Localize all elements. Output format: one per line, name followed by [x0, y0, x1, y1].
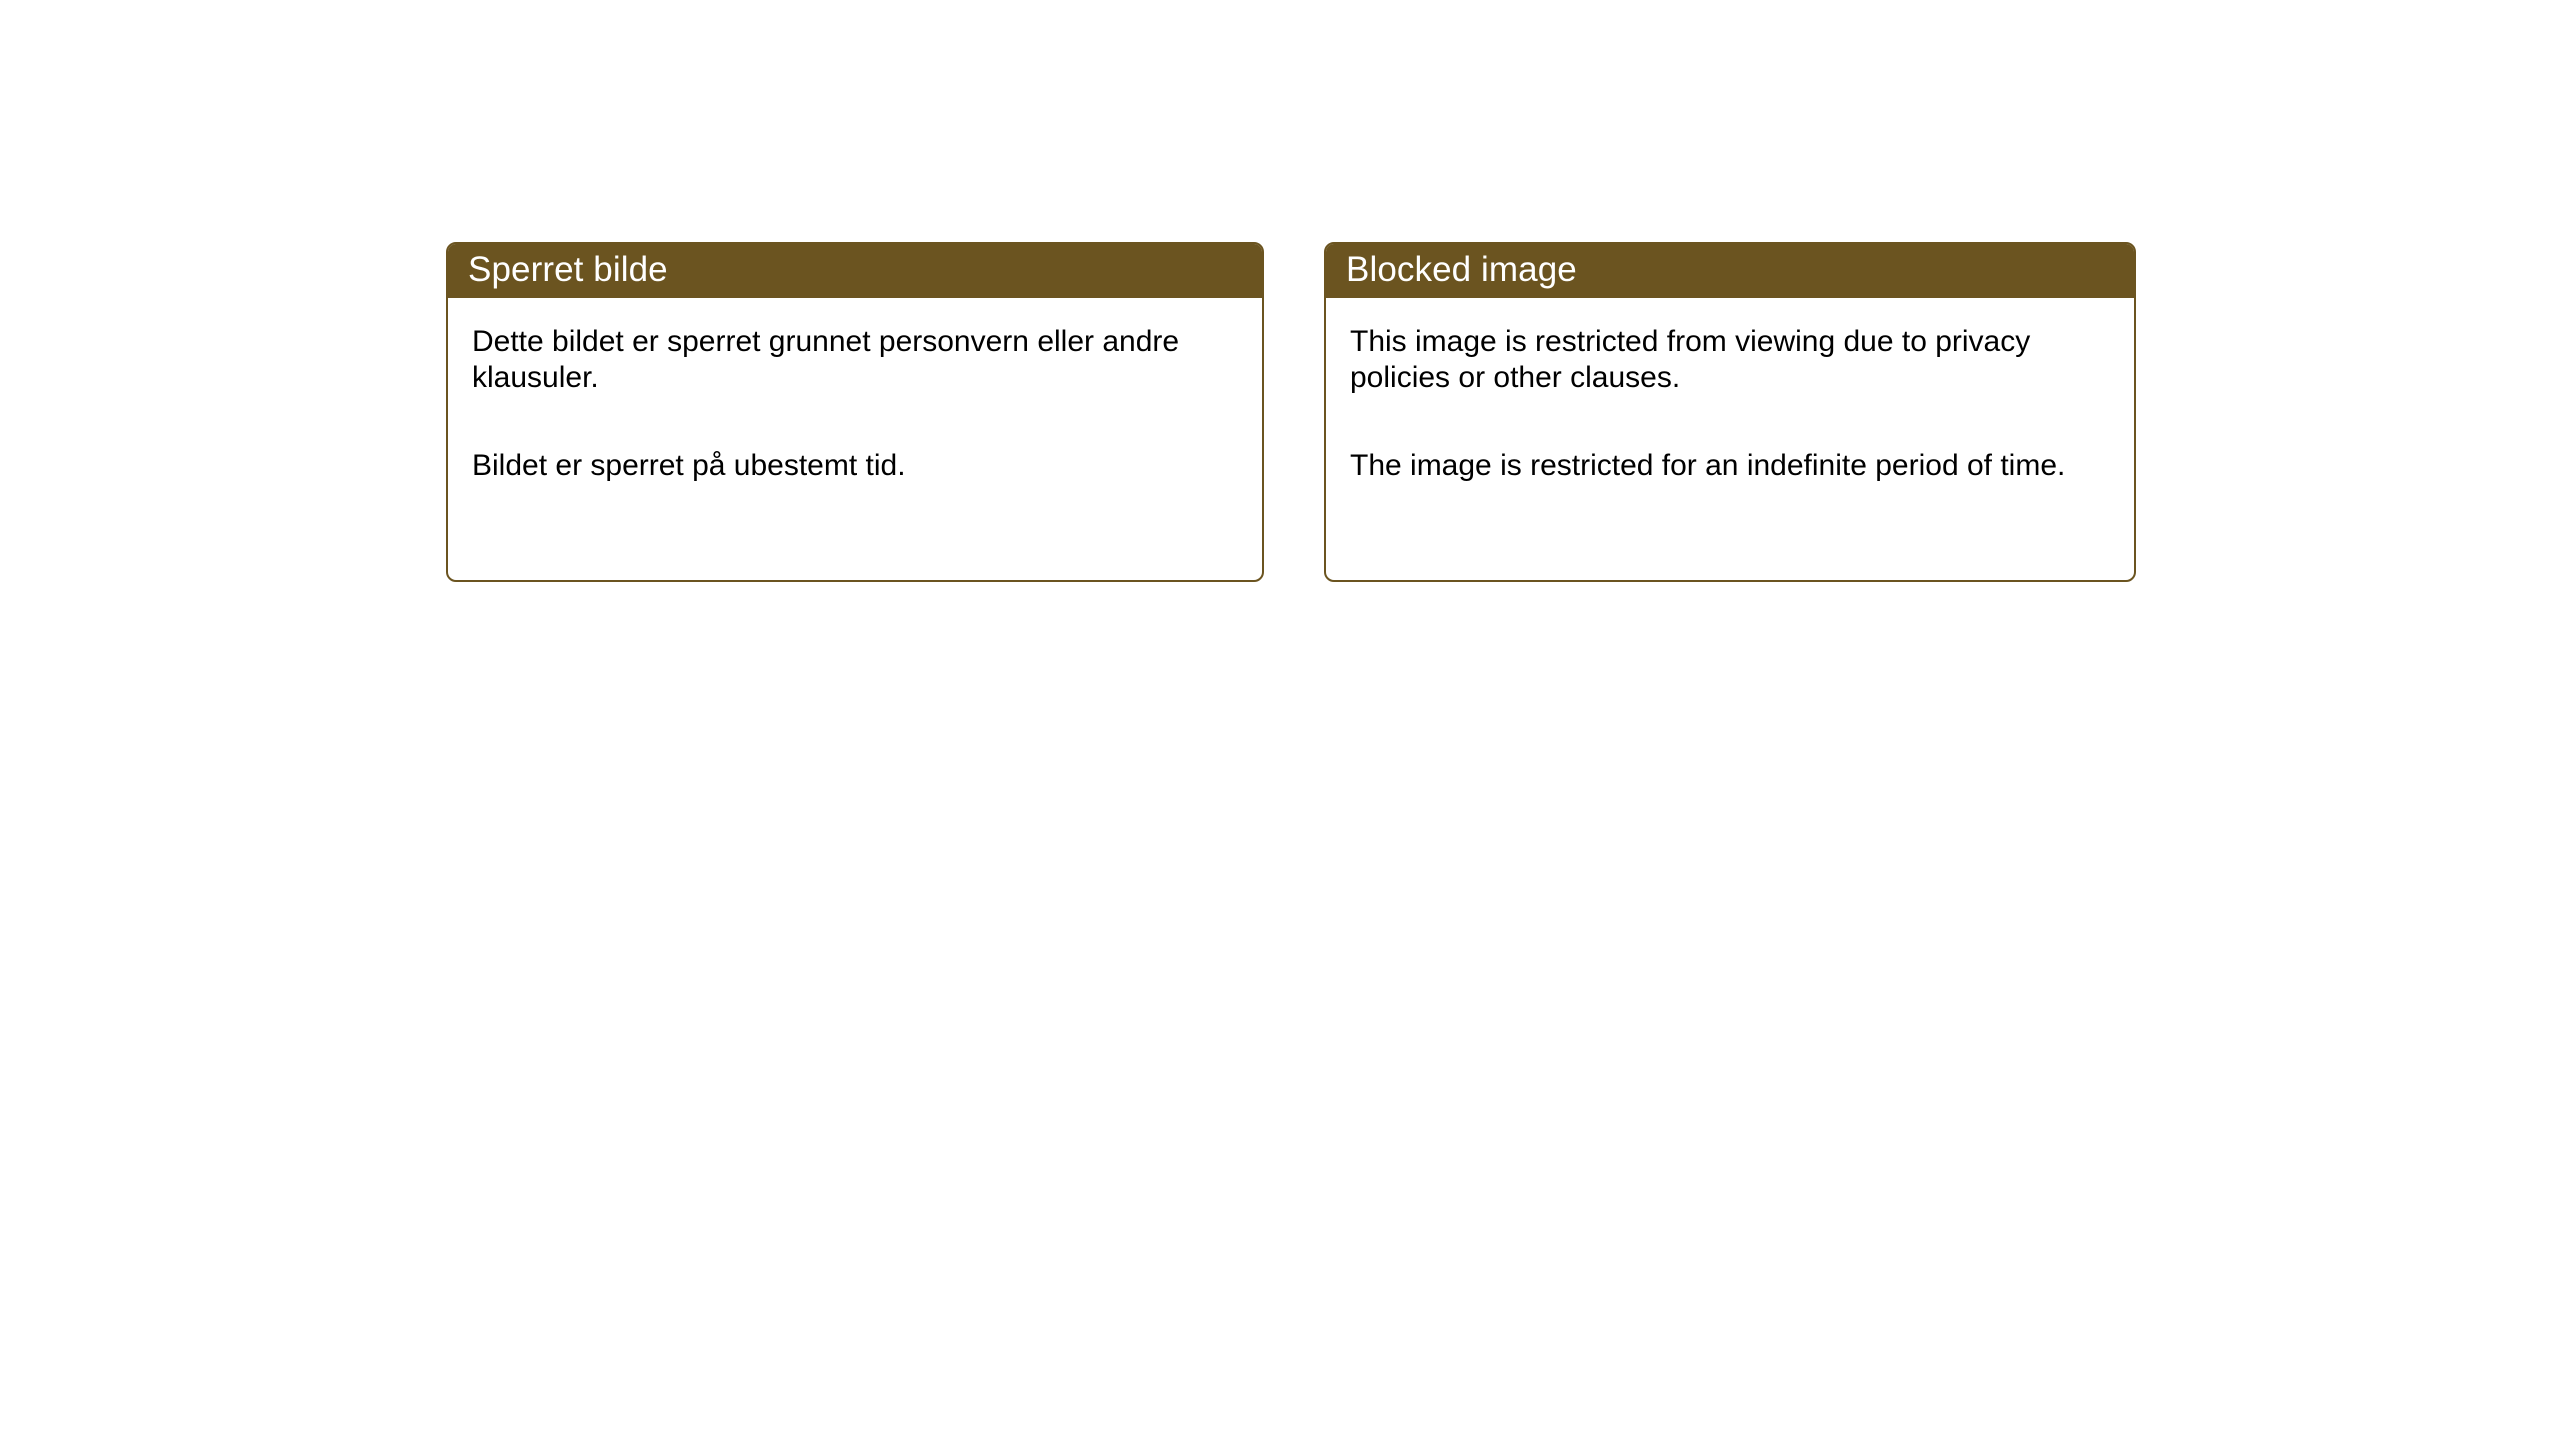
card-paragraph-english-2: The image is restricted for an indefinit… [1350, 448, 2110, 484]
card-body-norwegian: Dette bildet er sperret grunnet personve… [448, 298, 1262, 484]
card-paragraph-norwegian-1: Dette bildet er sperret grunnet personve… [472, 324, 1238, 396]
card-paragraph-norwegian-2: Bildet er sperret på ubestemt tid. [472, 448, 1238, 484]
card-header-english: Blocked image [1324, 242, 2136, 298]
blocked-image-notice-group: Sperret bilde Dette bildet er sperret gr… [446, 242, 2136, 582]
card-header-norwegian: Sperret bilde [446, 242, 1264, 298]
card-title-norwegian: Sperret bilde [468, 252, 668, 287]
card-body-english: This image is restricted from viewing du… [1326, 298, 2134, 484]
page-canvas: Sperret bilde Dette bildet er sperret gr… [0, 0, 2560, 1440]
card-title-english: Blocked image [1346, 252, 1577, 287]
blocked-image-card-english: Blocked image This image is restricted f… [1324, 242, 2136, 582]
blocked-image-card-norwegian: Sperret bilde Dette bildet er sperret gr… [446, 242, 1264, 582]
card-paragraph-english-1: This image is restricted from viewing du… [1350, 324, 2110, 396]
